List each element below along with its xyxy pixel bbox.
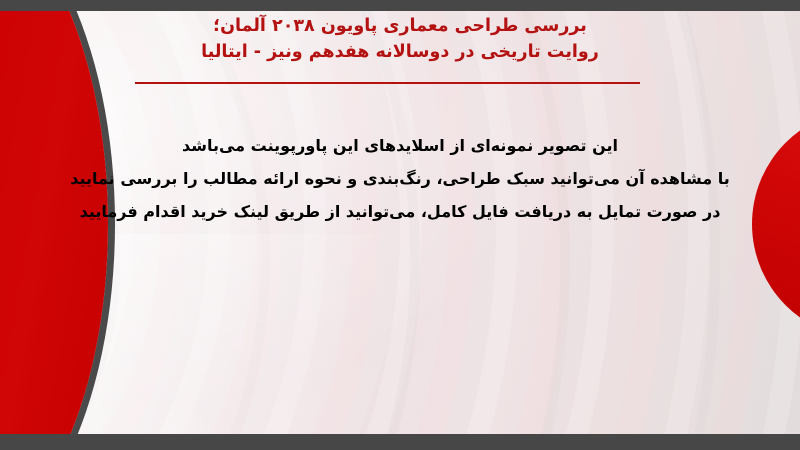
slide: بررسی طراحی معماری پاویون ۲۰۳۸ آلمان؛ رو… <box>0 0 800 450</box>
slide-title-line-1: بررسی طراحی معماری پاویون ۲۰۳۸ آلمان؛ <box>0 13 800 39</box>
slide-body-line-1: این تصویر نمونه‌ای از اسلایدهای این پاور… <box>0 129 800 162</box>
title-underline-rule <box>135 82 640 84</box>
slide-content: بررسی طراحی معماری پاویون ۲۰۳۸ آلمان؛ رو… <box>0 11 800 434</box>
slide-title: بررسی طراحی معماری پاویون ۲۰۳۸ آلمان؛ رو… <box>0 13 800 65</box>
slide-body: این تصویر نمونه‌ای از اسلایدهای این پاور… <box>0 129 800 228</box>
slide-canvas: بررسی طراحی معماری پاویون ۲۰۳۸ آلمان؛ رو… <box>0 11 800 434</box>
slide-frame-top <box>0 0 800 11</box>
slide-frame-bottom <box>0 434 800 450</box>
slide-body-line-2: با مشاهده آن می‌توانید سبک طراحی، رنگ‌بن… <box>0 162 800 195</box>
slide-body-line-3: در صورت تمایل به دریافت فایل کامل، می‌تو… <box>0 195 800 228</box>
slide-title-line-2: روایت تاریخی در دوسالانه هفدهم ونیز - ای… <box>0 39 800 65</box>
